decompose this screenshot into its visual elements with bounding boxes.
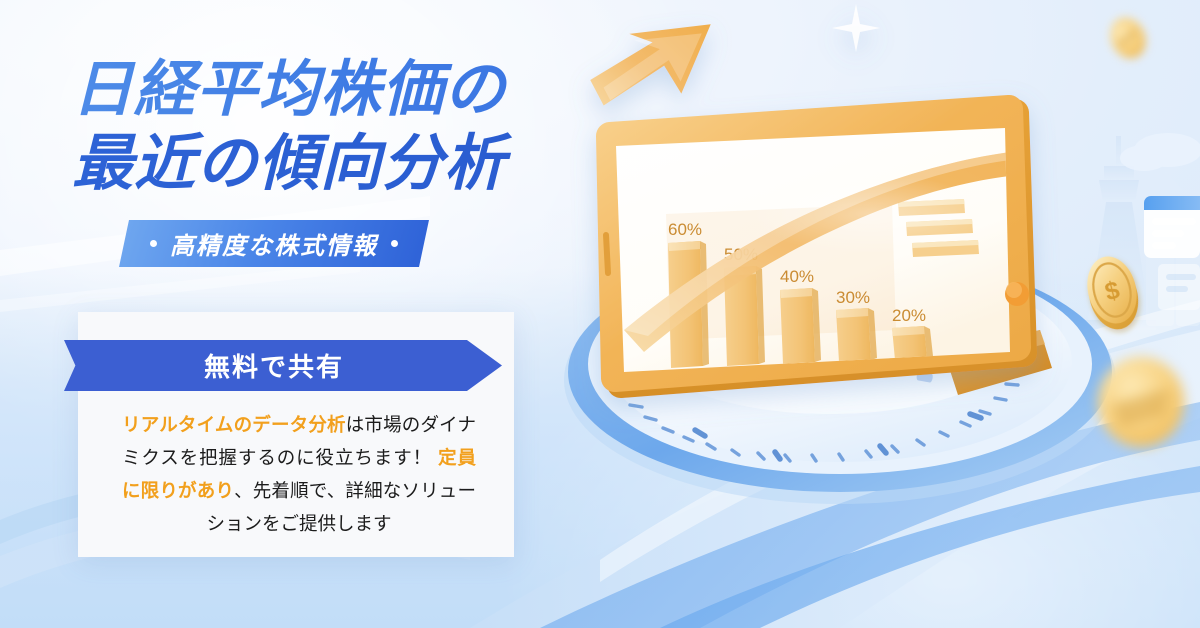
- sparkle-icon: [832, 4, 880, 52]
- bullet-dot-right-icon: [391, 240, 398, 247]
- subtitle-badge-label: 高精度な株式情報: [170, 226, 378, 261]
- growth-arrow-head: [588, 12, 711, 115]
- coin-right-stack: $: [1080, 251, 1144, 334]
- free-share-ribbon-label: 無料で共有: [204, 347, 344, 384]
- subtitle-badge: 高精度な株式情報: [119, 220, 429, 267]
- bar-label-4: 20%: [892, 306, 926, 325]
- banner-canvas: 日経平均株価の 最近の傾向分析 高精度な株式情報 無料で共有 リアルタイムのデー…: [0, 0, 1200, 628]
- illustration: 60% 50% 40% 30% 20%: [540, 0, 1200, 628]
- tablet-device: 60% 50% 40% 30% 20%: [588, 4, 1037, 398]
- bar-label-2: 40%: [780, 267, 814, 286]
- bar-label-0: 60%: [668, 220, 702, 239]
- tablet-chart-illustration: 60% 50% 40% 30% 20%: [540, 0, 1200, 628]
- free-share-ribbon: 無料で共有: [64, 340, 502, 391]
- info-card-body: リアルタイムのデータ分析は市場のダイナミクスを把握するのに役立ちます！ 定員に限…: [122, 408, 476, 540]
- body-text-2: 、先着順で、詳細なソリューションをご提供します: [206, 480, 476, 534]
- info-card: 無料で共有 リアルタイムのデータ分析は市場のダイナミクスを把握するのに役立ちます…: [78, 312, 514, 557]
- bar-label-3: 30%: [836, 288, 870, 307]
- bullet-dot-left-icon: [150, 240, 157, 247]
- body-highlight-1: リアルタイムのデータ分析: [122, 414, 346, 435]
- subtitle-badge-wrapper: 高精度な株式情報: [124, 220, 424, 267]
